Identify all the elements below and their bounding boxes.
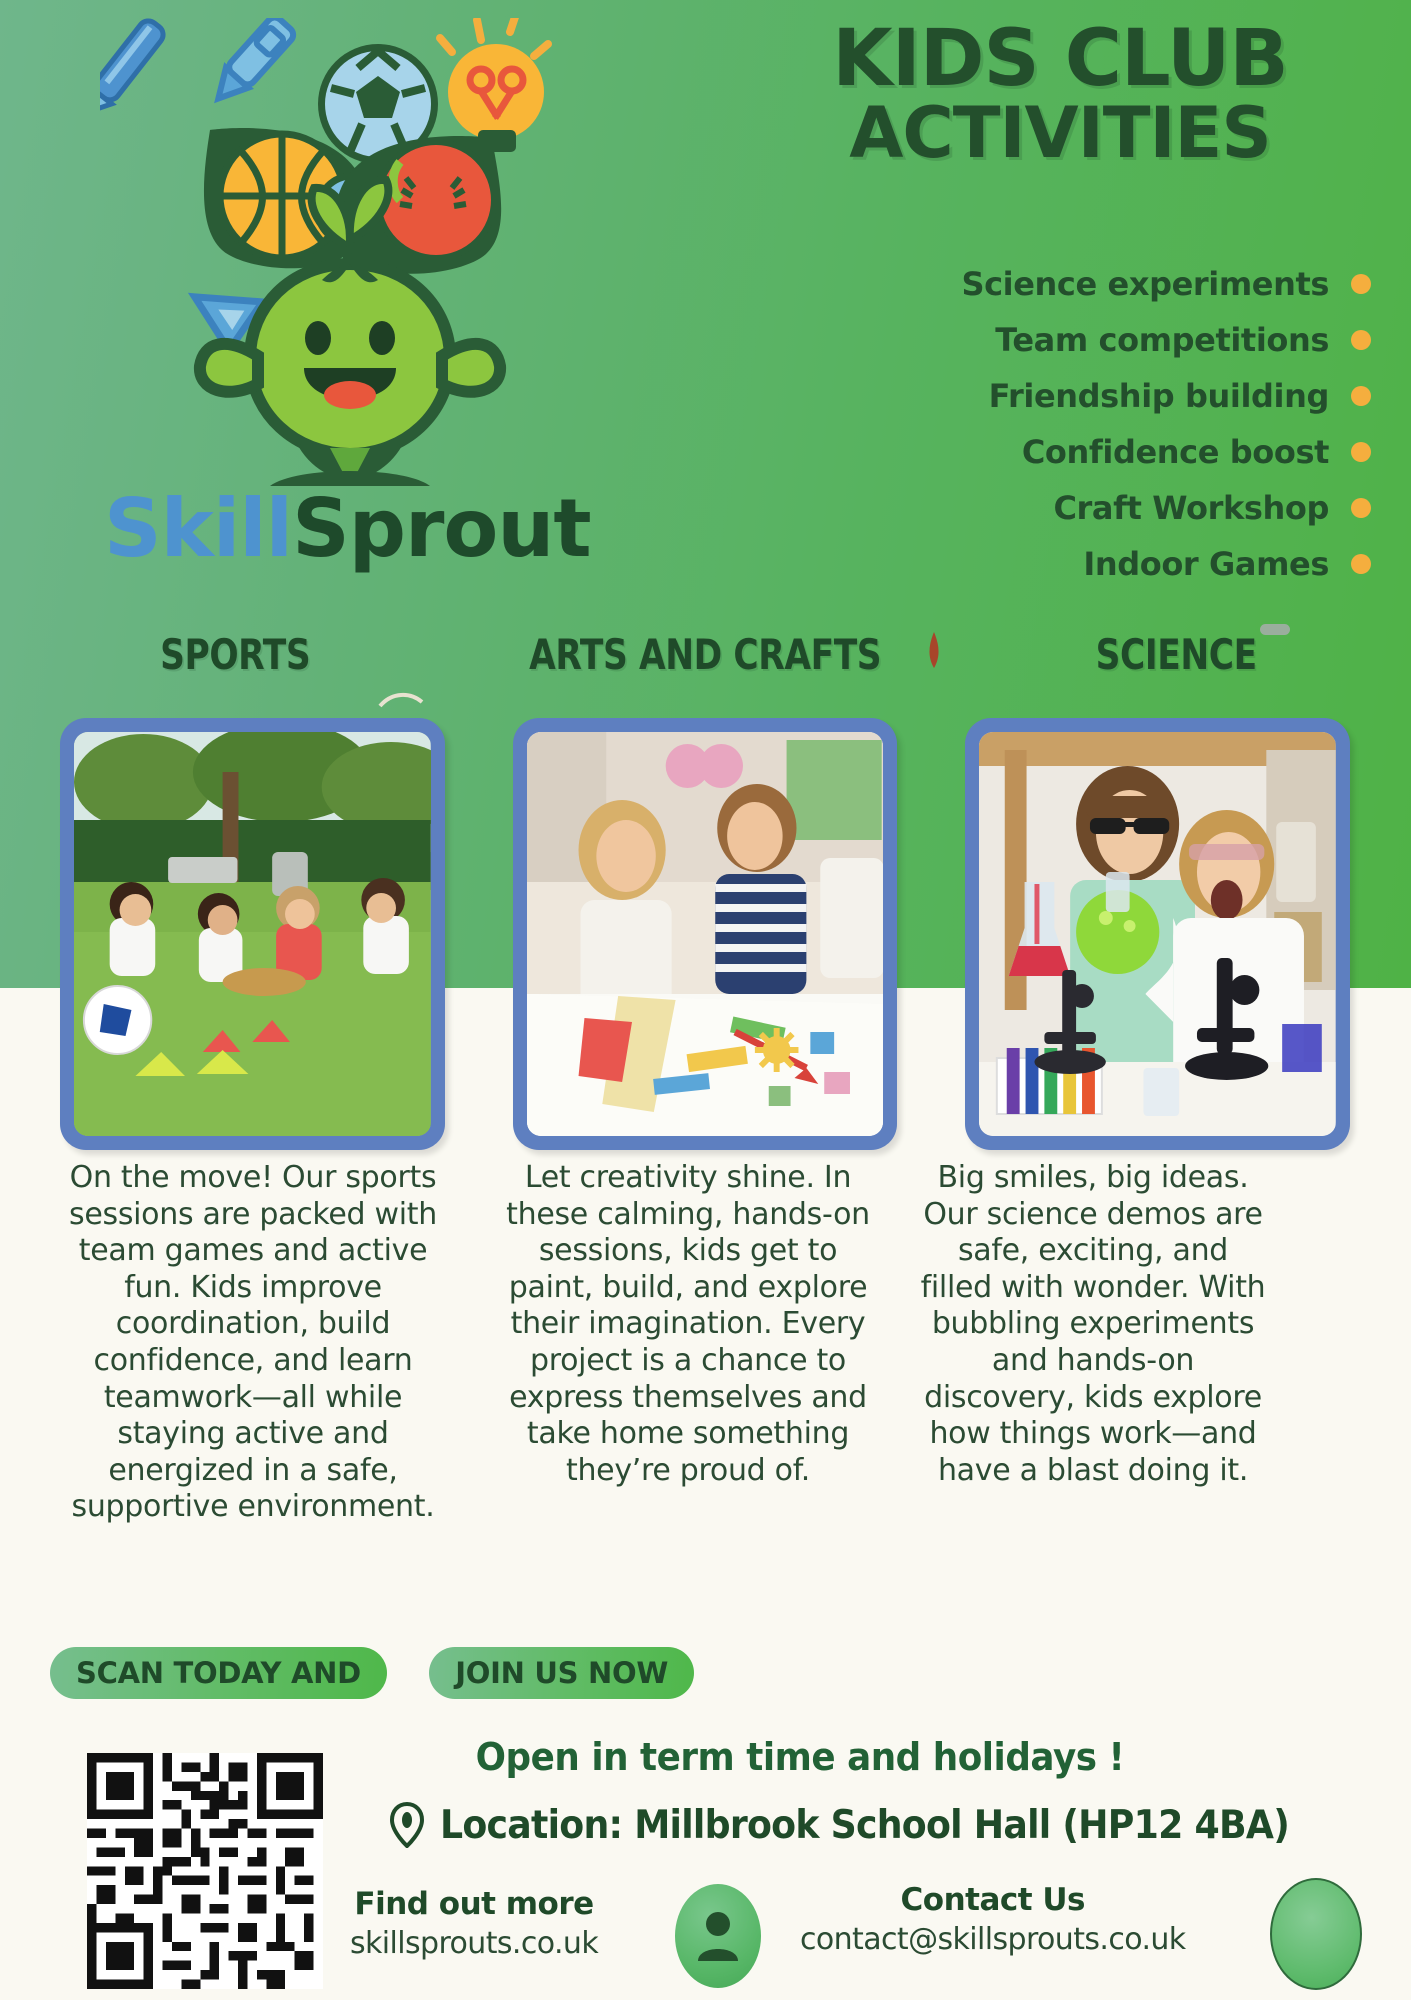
science-photo (979, 732, 1336, 1136)
find-out-more-block[interactable]: Find out more skillsprouts.co.uk (350, 1886, 598, 1961)
activity-label: Craft Workshop (1053, 489, 1329, 527)
decorative-ring-circle (1270, 1878, 1362, 1990)
page-title: KIDS CLUB ACTIVITIES (760, 22, 1360, 167)
bullet-dot-icon (1351, 330, 1371, 350)
brand-wordmark: SkillSprout (104, 482, 591, 575)
description-science: Big smiles, big ideas. Our science demos… (918, 1160, 1268, 1526)
list-item: Confidence boost (731, 430, 1371, 474)
pencil-icon (100, 18, 167, 120)
description-arts: Let creativity shine. In these calming, … (504, 1160, 872, 1526)
list-item: Friendship building (731, 374, 1371, 418)
headline-line-2: ACTIVITIES (760, 100, 1360, 167)
headline-line-1: KIDS CLUB (760, 22, 1360, 96)
contact-email[interactable]: contact@skillsprouts.co.uk (800, 1922, 1186, 1957)
skillsprout-logo (100, 18, 600, 488)
scan-cta[interactable]: SCAN TODAY AND JOIN US NOW (50, 1641, 694, 1699)
list-item: Craft Workshop (731, 486, 1371, 530)
sports-photo (74, 732, 431, 1136)
website-url[interactable]: skillsprouts.co.uk (350, 1926, 598, 1961)
bullet-dot-icon (1351, 386, 1371, 406)
person-icon (695, 1909, 741, 1963)
location-row: Location: Millbrook School Hall (HP12 4B… (390, 1802, 1353, 1848)
photo-card-sports (60, 718, 445, 1150)
activity-label: Friendship building (989, 377, 1329, 415)
contact-row: Find out more skillsprouts.co.uk Contact… (340, 1882, 1370, 1992)
bullet-dot-icon (1351, 498, 1371, 518)
decorative-speck (378, 688, 424, 710)
column-heading-arts: ARTS AND CRAFTS (513, 630, 899, 679)
activity-label: Team competitions (995, 321, 1329, 359)
bullet-dot-icon (1351, 274, 1371, 294)
description-sports: On the move! Our sports sessions are pac… (48, 1160, 458, 1526)
scan-badge-line-1[interactable]: SCAN TODAY AND (50, 1647, 387, 1699)
location-pin-icon (390, 1802, 424, 1848)
qr-code[interactable] (87, 1753, 323, 1989)
lightbulb-idea-icon (440, 18, 548, 152)
bullet-dot-icon (1351, 554, 1371, 574)
photo-card-row (60, 718, 1350, 1150)
bullet-dot-icon (1351, 442, 1371, 462)
photo-card-science (965, 718, 1350, 1150)
activity-label: Science experiments (961, 265, 1329, 303)
brand-name-sprout: Sprout (292, 482, 591, 575)
brand-name-skill: Skill (104, 482, 292, 575)
column-headings: SPORTS ARTS AND CRAFTS SCIENCE (0, 630, 1411, 679)
person-avatar (675, 1884, 761, 1988)
location-label: Location: Millbrook School Hall (HP12 4B… (440, 1803, 1289, 1848)
activity-label: Confidence boost (1022, 433, 1329, 471)
photo-card-arts (513, 718, 898, 1150)
column-heading-science: SCIENCE (983, 630, 1369, 679)
contact-us-block[interactable]: Contact Us contact@skillsprouts.co.uk (800, 1882, 1186, 1957)
poster-root: SkillSprout KIDS CLUB ACTIVITIES Science… (0, 0, 1411, 2000)
decorative-pill-speck (1258, 620, 1292, 640)
activities-list: Science experiments Team competitions Fr… (731, 262, 1371, 598)
contact-us-title: Contact Us (800, 1882, 1186, 1918)
list-item: Indoor Games (731, 542, 1371, 586)
activity-label: Indoor Games (1083, 545, 1329, 583)
scan-badge-line-2[interactable]: JOIN US NOW (429, 1647, 694, 1699)
arts-photo (527, 732, 884, 1136)
marker-icon (207, 18, 296, 109)
list-item: Team competitions (731, 318, 1371, 362)
column-heading-sports: SPORTS (42, 630, 428, 679)
open-hours-note: Open in term time and holidays ! (443, 1735, 1157, 1779)
decorative-flame-speck (925, 630, 943, 672)
list-item: Science experiments (731, 262, 1371, 306)
description-row: On the move! Our sports sessions are pac… (48, 1160, 1368, 1526)
find-out-more-title: Find out more (350, 1886, 598, 1922)
